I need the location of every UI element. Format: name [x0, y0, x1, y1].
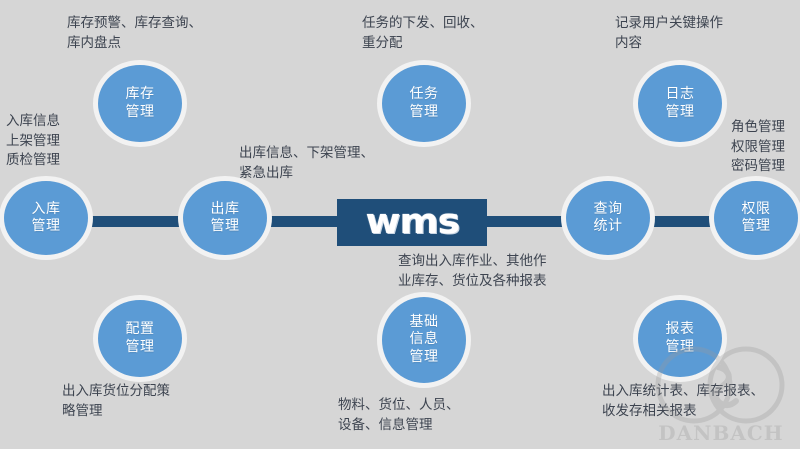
node-config-line-2: 管理 [126, 339, 155, 356]
node-query[interactable]: 查询 统计 [566, 181, 650, 255]
wms-center-block: wms [337, 199, 487, 246]
node-query-line-1: 查询 [594, 201, 623, 218]
node-report-line-2: 管理 [666, 339, 695, 356]
caption-task: 任务的下发、回收、 重分配 [362, 14, 562, 53]
node-task-line-2: 管理 [410, 104, 439, 121]
caption-inbound: 入库信息 上架管理 质检管理 [6, 112, 96, 171]
connector-wms-query [478, 216, 574, 227]
node-outbound-line-1: 出库 [211, 201, 240, 218]
caption-query: 查询出入库作业、其他作 业库存、货位及各种报表 [398, 252, 598, 291]
node-stock[interactable]: 库存 管理 [98, 65, 182, 142]
wms-label: wms [365, 205, 459, 240]
caption-outbound: 出库信息、下架管理、 紧急出库 [239, 144, 439, 183]
node-basic[interactable]: 基础 信息 管理 [382, 297, 466, 383]
node-basic-line-1: 基础 [410, 314, 439, 331]
node-config[interactable]: 配置 管理 [98, 300, 182, 377]
node-inbound[interactable]: 入库 管理 [4, 181, 88, 255]
node-task[interactable]: 任务 管理 [382, 65, 466, 142]
node-basic-line-2: 信息 [410, 331, 439, 348]
node-report-line-1: 报表 [666, 321, 695, 338]
node-inbound-line-2: 管理 [32, 218, 61, 235]
node-task-line-1: 任务 [410, 86, 439, 103]
watermark-label: DANBACH [646, 421, 796, 445]
caption-report: 出入库统计表、库存报表、 收发存相关报表 [602, 382, 800, 421]
caption-config: 出入库货位分配策 略管理 [62, 382, 212, 421]
node-log-line-2: 管理 [666, 104, 695, 121]
caption-log: 记录用户关键操作 内容 [615, 14, 800, 53]
node-report[interactable]: 报表 管理 [638, 300, 722, 377]
node-log[interactable]: 日志 管理 [638, 65, 722, 142]
node-basic-line-3: 管理 [410, 349, 439, 366]
caption-basic: 物料、货位、人员、 设备、信息管理 [338, 396, 518, 435]
connector-inbound-outbound [78, 216, 188, 227]
node-auth-line-1: 权限 [742, 201, 771, 218]
wms-architecture-diagram: wms 入库 管理 出库 管理 查询 统计 权限 管理 库存 管理 任务 管理 … [0, 0, 800, 449]
node-stock-line-1: 库存 [126, 86, 155, 103]
node-outbound[interactable]: 出库 管理 [183, 181, 267, 255]
node-outbound-line-2: 管理 [211, 218, 240, 235]
node-query-line-2: 统计 [594, 218, 623, 235]
node-inbound-line-1: 入库 [32, 201, 61, 218]
caption-stock: 库存预警、库存查询、 库内盘点 [67, 14, 277, 53]
node-log-line-1: 日志 [666, 86, 695, 103]
node-auth-line-2: 管理 [742, 218, 771, 235]
node-config-line-1: 配置 [126, 321, 155, 338]
node-stock-line-2: 管理 [126, 104, 155, 121]
node-auth[interactable]: 权限 管理 [714, 181, 798, 255]
caption-auth: 角色管理 权限管理 密码管理 [731, 118, 800, 177]
